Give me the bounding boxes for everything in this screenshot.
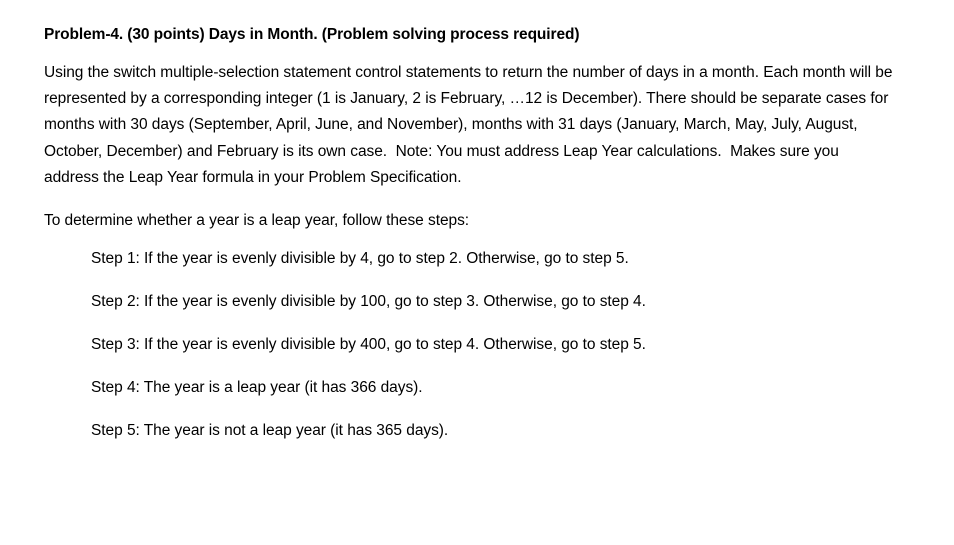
document-page: Problem-4. (30 points) Days in Month. (P… bbox=[0, 0, 954, 545]
list-item: Step 1: If the year is evenly divisible … bbox=[91, 249, 943, 269]
leap-year-lead-in: To determine whether a year is a leap ye… bbox=[44, 208, 896, 234]
list-item: Step 4: The year is a leap year (it has … bbox=[91, 378, 943, 398]
list-item: Step 2: If the year is evenly divisible … bbox=[91, 292, 943, 312]
document-body: Problem-4. (30 points) Days in Month. (P… bbox=[44, 22, 896, 449]
list-item: Step 5: The year is not a leap year (it … bbox=[91, 421, 943, 441]
page-title: Problem-4. (30 points) Days in Month. (P… bbox=[44, 22, 896, 48]
intro-paragraph: Using the switch multiple-selection stat… bbox=[44, 60, 896, 191]
leap-year-steps-list: Step 1: If the year is evenly divisible … bbox=[91, 249, 943, 441]
list-item: Step 3: If the year is evenly divisible … bbox=[91, 335, 943, 355]
